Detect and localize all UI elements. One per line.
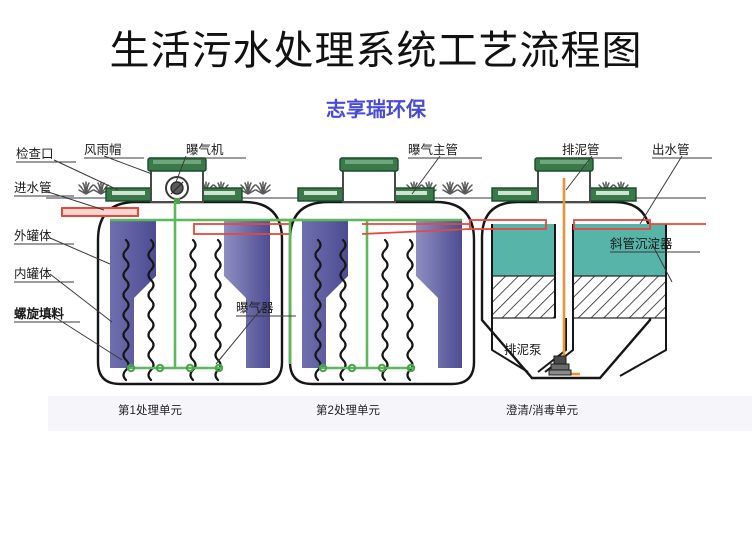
caption-unit-3: 澄清/消毒单元 [442,402,642,418]
label-main-aeration-pipe: 曝气主管 [408,142,458,157]
label-inspection-port: 检查口 [16,146,54,161]
aerator-blower-house [148,158,206,204]
label-inner-tank-body: 内罐体 [14,267,52,281]
label-diffuser: 曝气器 [236,300,274,315]
clarifier-disinfection-unit [470,158,666,378]
label-spiral-filler: 螺旋填料 [14,306,65,321]
label-effluent-pipe: 出水管 [652,142,690,157]
page-subtitle: 志享瑞环保 [0,98,752,122]
water-zone-left [492,224,555,276]
label-sludge-discharge-pipe: 排泥管 [562,142,600,157]
label-outer-tank-body: 外罐体 [14,229,52,243]
label-aerator-machine: 曝气机 [186,142,224,157]
label-sludge-pump: 排泥泵 [504,343,542,357]
weather-cap-2 [340,158,398,171]
page-title: 生活污水处理系统工艺流程图 [0,28,752,74]
caption-unit-2: 第2处理单元 [258,402,438,418]
label-influent-pipe: 进水管 [14,180,52,195]
tube-settler-right [573,276,666,318]
weather-cap-3 [535,158,593,171]
label-weather-cap: 风雨帽 [84,142,122,157]
caption-unit-1: 第1处理单元 [60,402,240,418]
treatment-unit-2 [290,188,474,384]
process-flow-diagram: 检查口 风雨帽 曝气机 曝气主管 排泥管 出水管 进水管 外罐体 内罐体 螺旋填… [0,132,752,432]
diagram-page: 生活污水处理系统工艺流程图 志享瑞环保 [0,0,752,557]
weather-cap-1 [148,158,206,171]
label-tube-settler: 斜管沉淀器 [610,236,673,251]
tube-settler-left [492,276,555,318]
junction-house-2 [340,158,398,202]
